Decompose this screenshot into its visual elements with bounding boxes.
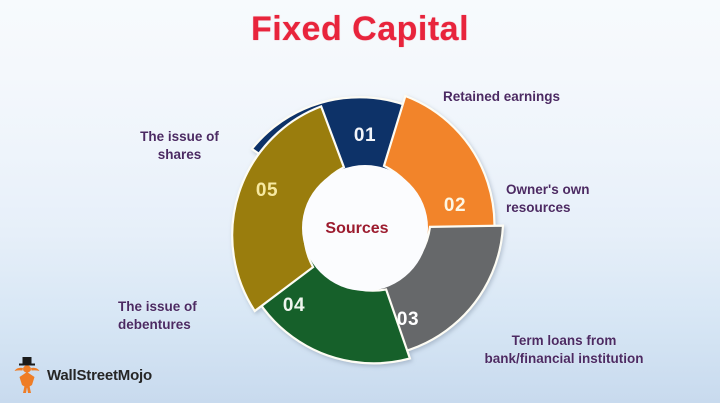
bull-tophat-logo-icon	[12, 355, 42, 395]
slide-canvas: Fixed Capital	[0, 0, 720, 403]
callout-label-retained-earnings: Retained earnings	[443, 88, 643, 106]
slice-number-04: 04	[283, 295, 305, 316]
slice-number-05: 05	[256, 180, 278, 201]
watermark: WallStreetMojo	[12, 355, 152, 395]
callout-label-issue-of-shares: The issue of shares	[112, 128, 247, 164]
callout-label-issue-of-debentures: The issue of debentures	[118, 298, 268, 334]
slice-number-01: 01	[354, 125, 376, 146]
slice-number-03: 03	[397, 309, 419, 330]
callout-label-term-loans: Term loans from bank/financial instituti…	[449, 332, 679, 368]
slice-number-02: 02	[444, 195, 466, 216]
page-title: Fixed Capital	[0, 10, 720, 49]
chart-center-label: Sources	[325, 220, 388, 237]
callout-label-owners-own-resources: Owner's own resources	[506, 181, 656, 217]
watermark-brand-text: WallStreetMojo	[47, 367, 152, 384]
